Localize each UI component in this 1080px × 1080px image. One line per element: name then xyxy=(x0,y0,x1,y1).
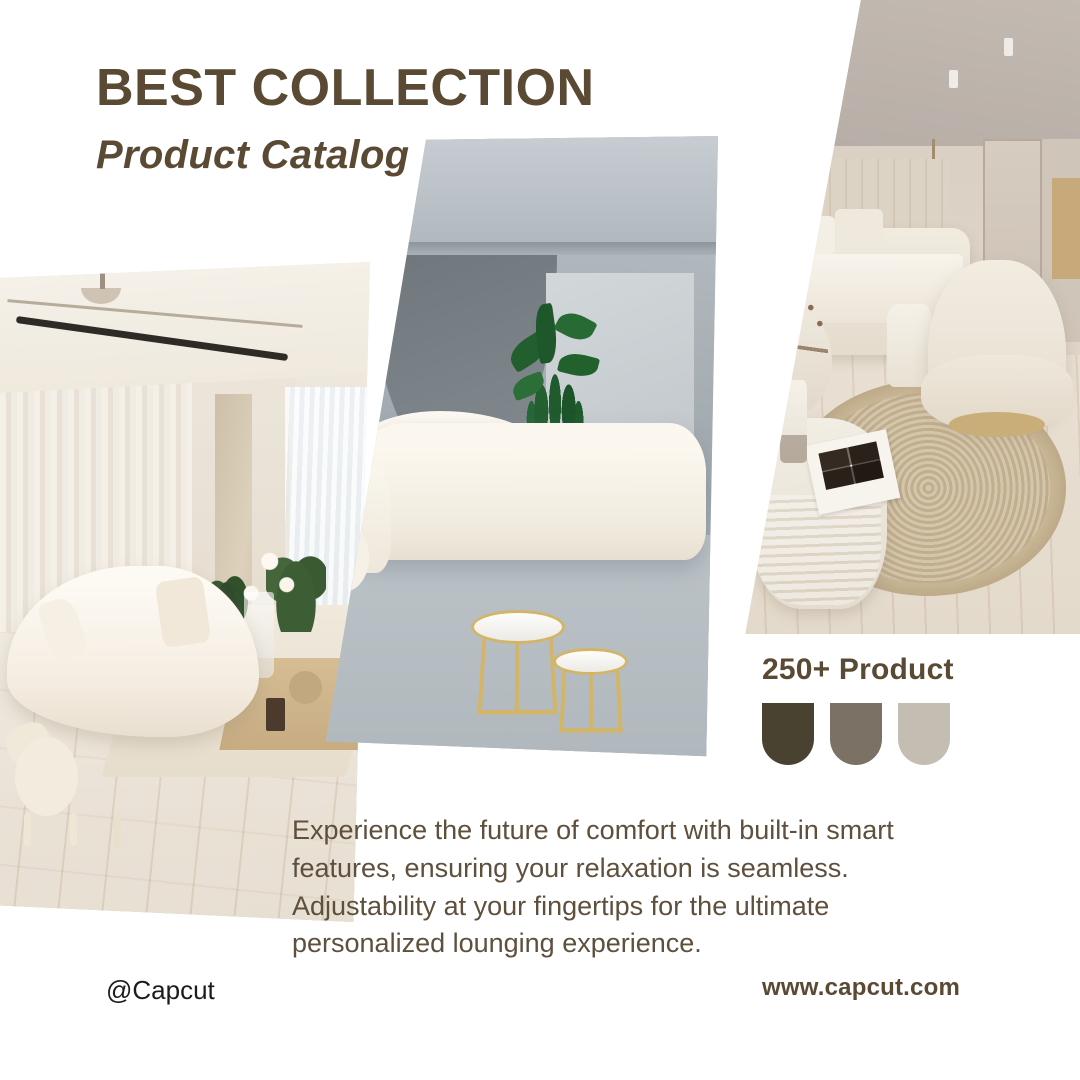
product-count-label: 250+ Product xyxy=(762,653,954,687)
lr-round-stool xyxy=(15,737,78,816)
title-block: BEST COLLECTION Product Catalog xyxy=(96,62,595,178)
color-swatch-taupe[interactable] xyxy=(830,703,882,765)
br-spotlight-icon xyxy=(1004,38,1013,56)
color-swatch-list xyxy=(762,703,954,765)
ms-leaf xyxy=(554,307,599,347)
bedroom-scene xyxy=(735,0,1080,634)
website-url[interactable]: www.capcut.com xyxy=(762,974,960,1002)
grey-studio-scene xyxy=(326,136,718,760)
gallery-image-bedroom[interactable] xyxy=(735,0,1080,634)
ms-cornice xyxy=(326,242,718,254)
br-side-stool xyxy=(887,304,932,386)
br-wall-art xyxy=(1052,178,1080,279)
ms-leaf xyxy=(510,371,548,401)
gallery-image-grey-studio[interactable] xyxy=(326,136,718,760)
ms-curved-sofa xyxy=(342,423,707,560)
description-paragraph: Experience the future of comfort with bu… xyxy=(292,812,964,963)
ms-table-legs xyxy=(559,671,622,732)
br-pillow xyxy=(787,216,835,254)
ms-coffee-table-large xyxy=(471,610,565,710)
page-title: BEST COLLECTION xyxy=(96,62,595,115)
lr-wood-bowl xyxy=(289,671,322,704)
page-subtitle: Product Catalog xyxy=(96,133,595,178)
social-handle[interactable]: @Capcut xyxy=(106,975,215,1006)
br-ceiling xyxy=(735,0,1080,146)
br-pillow xyxy=(835,209,883,247)
br-dried-stems xyxy=(787,304,828,393)
ms-leaf xyxy=(557,350,600,381)
poster-canvas: BEST COLLECTION Product Catalog xyxy=(0,0,1080,1080)
br-spotlight-icon xyxy=(949,70,958,88)
ms-coffee-table-small xyxy=(553,648,627,729)
ms-marble-top xyxy=(471,610,565,644)
ms-marble-top xyxy=(553,648,627,676)
lr-dark-cup xyxy=(266,698,285,731)
lr-cushion-right xyxy=(155,576,212,648)
ms-table-legs xyxy=(478,639,559,715)
product-count-block: 250+ Product xyxy=(762,653,954,765)
color-swatch-dark-olive[interactable] xyxy=(762,703,814,765)
color-swatch-greige[interactable] xyxy=(898,703,950,765)
